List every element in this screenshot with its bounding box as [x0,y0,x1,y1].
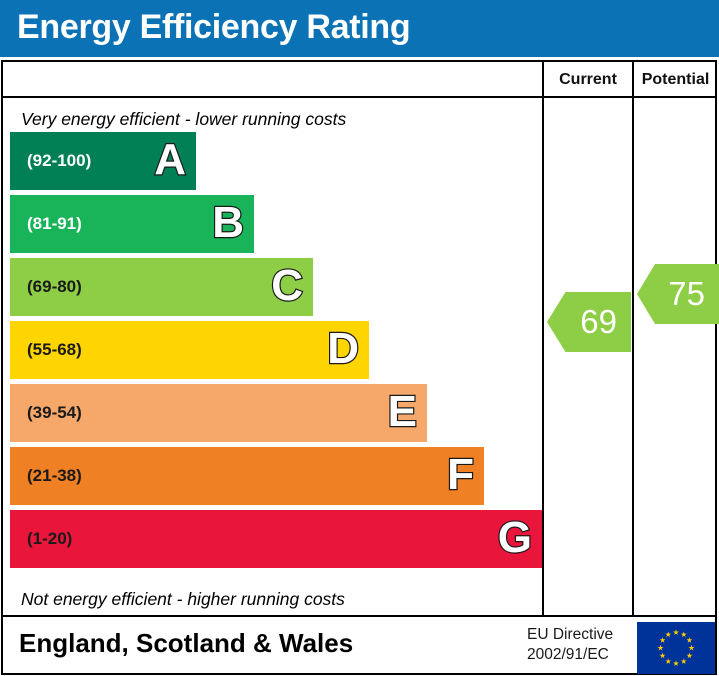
page-title: Energy Efficiency Rating [17,8,410,47]
band-range-c: (69-80) [27,277,82,297]
current-rating-value: 69 [580,303,617,341]
band-range-f: (21-38) [27,466,82,486]
band-row-e: (39-54) E [10,384,427,442]
potential-column-divider [632,62,634,615]
chart-title-band: Energy Efficiency Rating [0,0,719,57]
band-letter-g: G [498,516,532,560]
band-row-c: (69-80) C [10,258,313,316]
column-header-current: Current [544,68,632,92]
current-rating-arrow: 69 [547,292,631,352]
current-column-divider [542,62,544,615]
band-range-b: (81-91) [27,214,82,234]
band-bars-container: (92-100) A (81-91) B (69-80) C (55-68) D… [3,62,542,615]
band-row-a: (92-100) A [10,132,196,190]
eu-directive-label: EU Directive 2002/91/EC [527,625,631,665]
band-row-f: (21-38) F [10,447,484,505]
potential-rating-arrow: 75 [637,264,719,324]
band-letter-c: C [271,264,303,308]
band-range-e: (39-54) [27,403,82,423]
band-letter-e: E [388,390,417,434]
band-range-a: (92-100) [27,151,91,171]
eu-directive-line-1: EU Directive [527,625,631,645]
band-letter-f: F [447,453,474,497]
band-letter-b: B [212,201,244,245]
band-row-d: (55-68) D [10,321,369,379]
ratings-table: Current Potential Very energy efficient … [1,60,717,617]
band-letter-d: D [327,327,359,371]
potential-rating-value: 75 [668,275,705,313]
chart-footer: England, Scotland & Wales EU Directive 2… [1,617,717,675]
eu-flag-icon [637,622,715,674]
column-header-potential: Potential [634,68,717,92]
band-range-g: (1-20) [27,529,72,549]
footer-region-label: England, Scotland & Wales [19,628,353,659]
band-range-d: (55-68) [27,340,82,360]
band-row-b: (81-91) B [10,195,254,253]
band-letter-a: A [154,138,186,182]
band-row-g: (1-20) G [10,510,542,568]
energy-efficiency-rating-chart: Energy Efficiency Rating Current Potenti… [0,0,719,676]
eu-directive-line-2: 2002/91/EC [527,645,631,665]
